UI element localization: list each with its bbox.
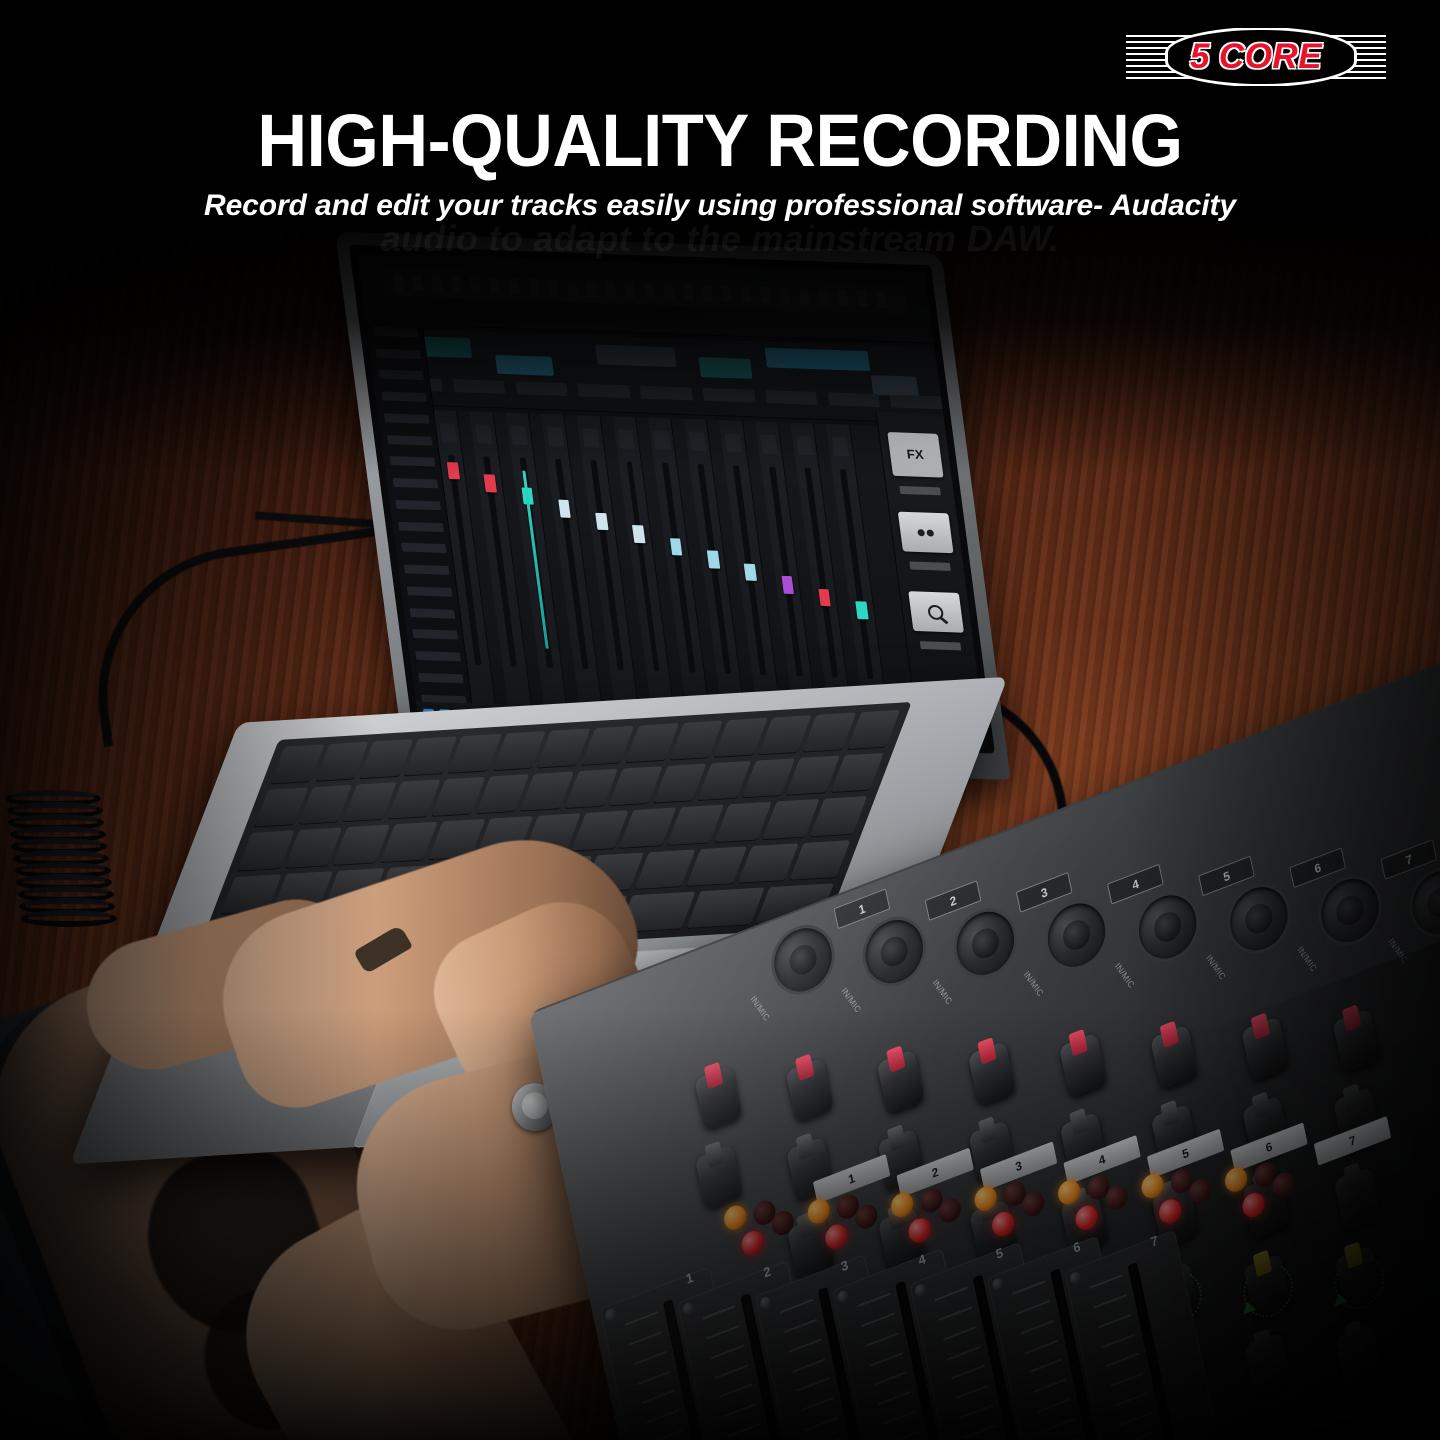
daw-fader-slot (591, 460, 624, 670)
daw-track-row (398, 521, 444, 532)
daw-track-row (406, 586, 452, 597)
daw-track-row (409, 608, 455, 619)
daw-track-row (401, 543, 447, 554)
fx-divider (899, 485, 940, 494)
ghost-text: audio to adapt to the mainstream DAW. (0, 218, 1440, 260)
daw-fader-slot (698, 464, 731, 674)
daw-fader-cap (781, 576, 794, 594)
daw-track-row (395, 500, 441, 511)
daw-fader-cap (818, 589, 831, 607)
magnifier-icon[interactable] (908, 592, 964, 634)
daw-fader-slot (555, 459, 588, 669)
daw-track-row (392, 478, 438, 489)
keyboard-key (686, 887, 765, 929)
daw-fader-cap (558, 500, 571, 518)
fx-divider (920, 642, 961, 651)
page-subtitle: Record and edit your tracks easily using… (0, 189, 1440, 223)
fx-divider (909, 562, 950, 571)
keyboard-key (810, 796, 867, 837)
daw-fader-slot (805, 468, 838, 678)
daw-track-row (403, 565, 449, 576)
vignette-bottom (0, 1008, 1440, 1440)
daw-track-row (415, 651, 461, 662)
brand-logo: 5 CORE (1120, 28, 1392, 86)
daw-fader-slot (769, 467, 802, 677)
daw-fader-cap (670, 538, 683, 556)
logo-word: CORE (1219, 37, 1322, 77)
daw-level-meter (522, 471, 548, 649)
logo-number: 5 (1190, 37, 1210, 77)
daw-track-row (412, 629, 458, 640)
daw-fader-cap (707, 550, 720, 568)
daw-fader-cap (595, 512, 608, 530)
daw-fader-slot (662, 463, 695, 673)
keyboard-key (789, 840, 850, 881)
daw-fader-slot (626, 462, 659, 672)
dots-icon[interactable] (897, 512, 953, 554)
logo-text: 5 CORE (1120, 28, 1392, 86)
product-banner: /*coils drawn below*/ FX (0, 0, 1440, 1440)
daw-fader-slot (840, 469, 873, 679)
daw-track-row (418, 673, 464, 684)
page-title: HIGH-QUALITY RECORDING (50, 98, 1389, 183)
daw-fader-cap (744, 563, 757, 581)
daw-fader-cap (855, 601, 868, 619)
daw-fader-cap (632, 525, 645, 543)
daw-fader-cap (484, 474, 497, 492)
